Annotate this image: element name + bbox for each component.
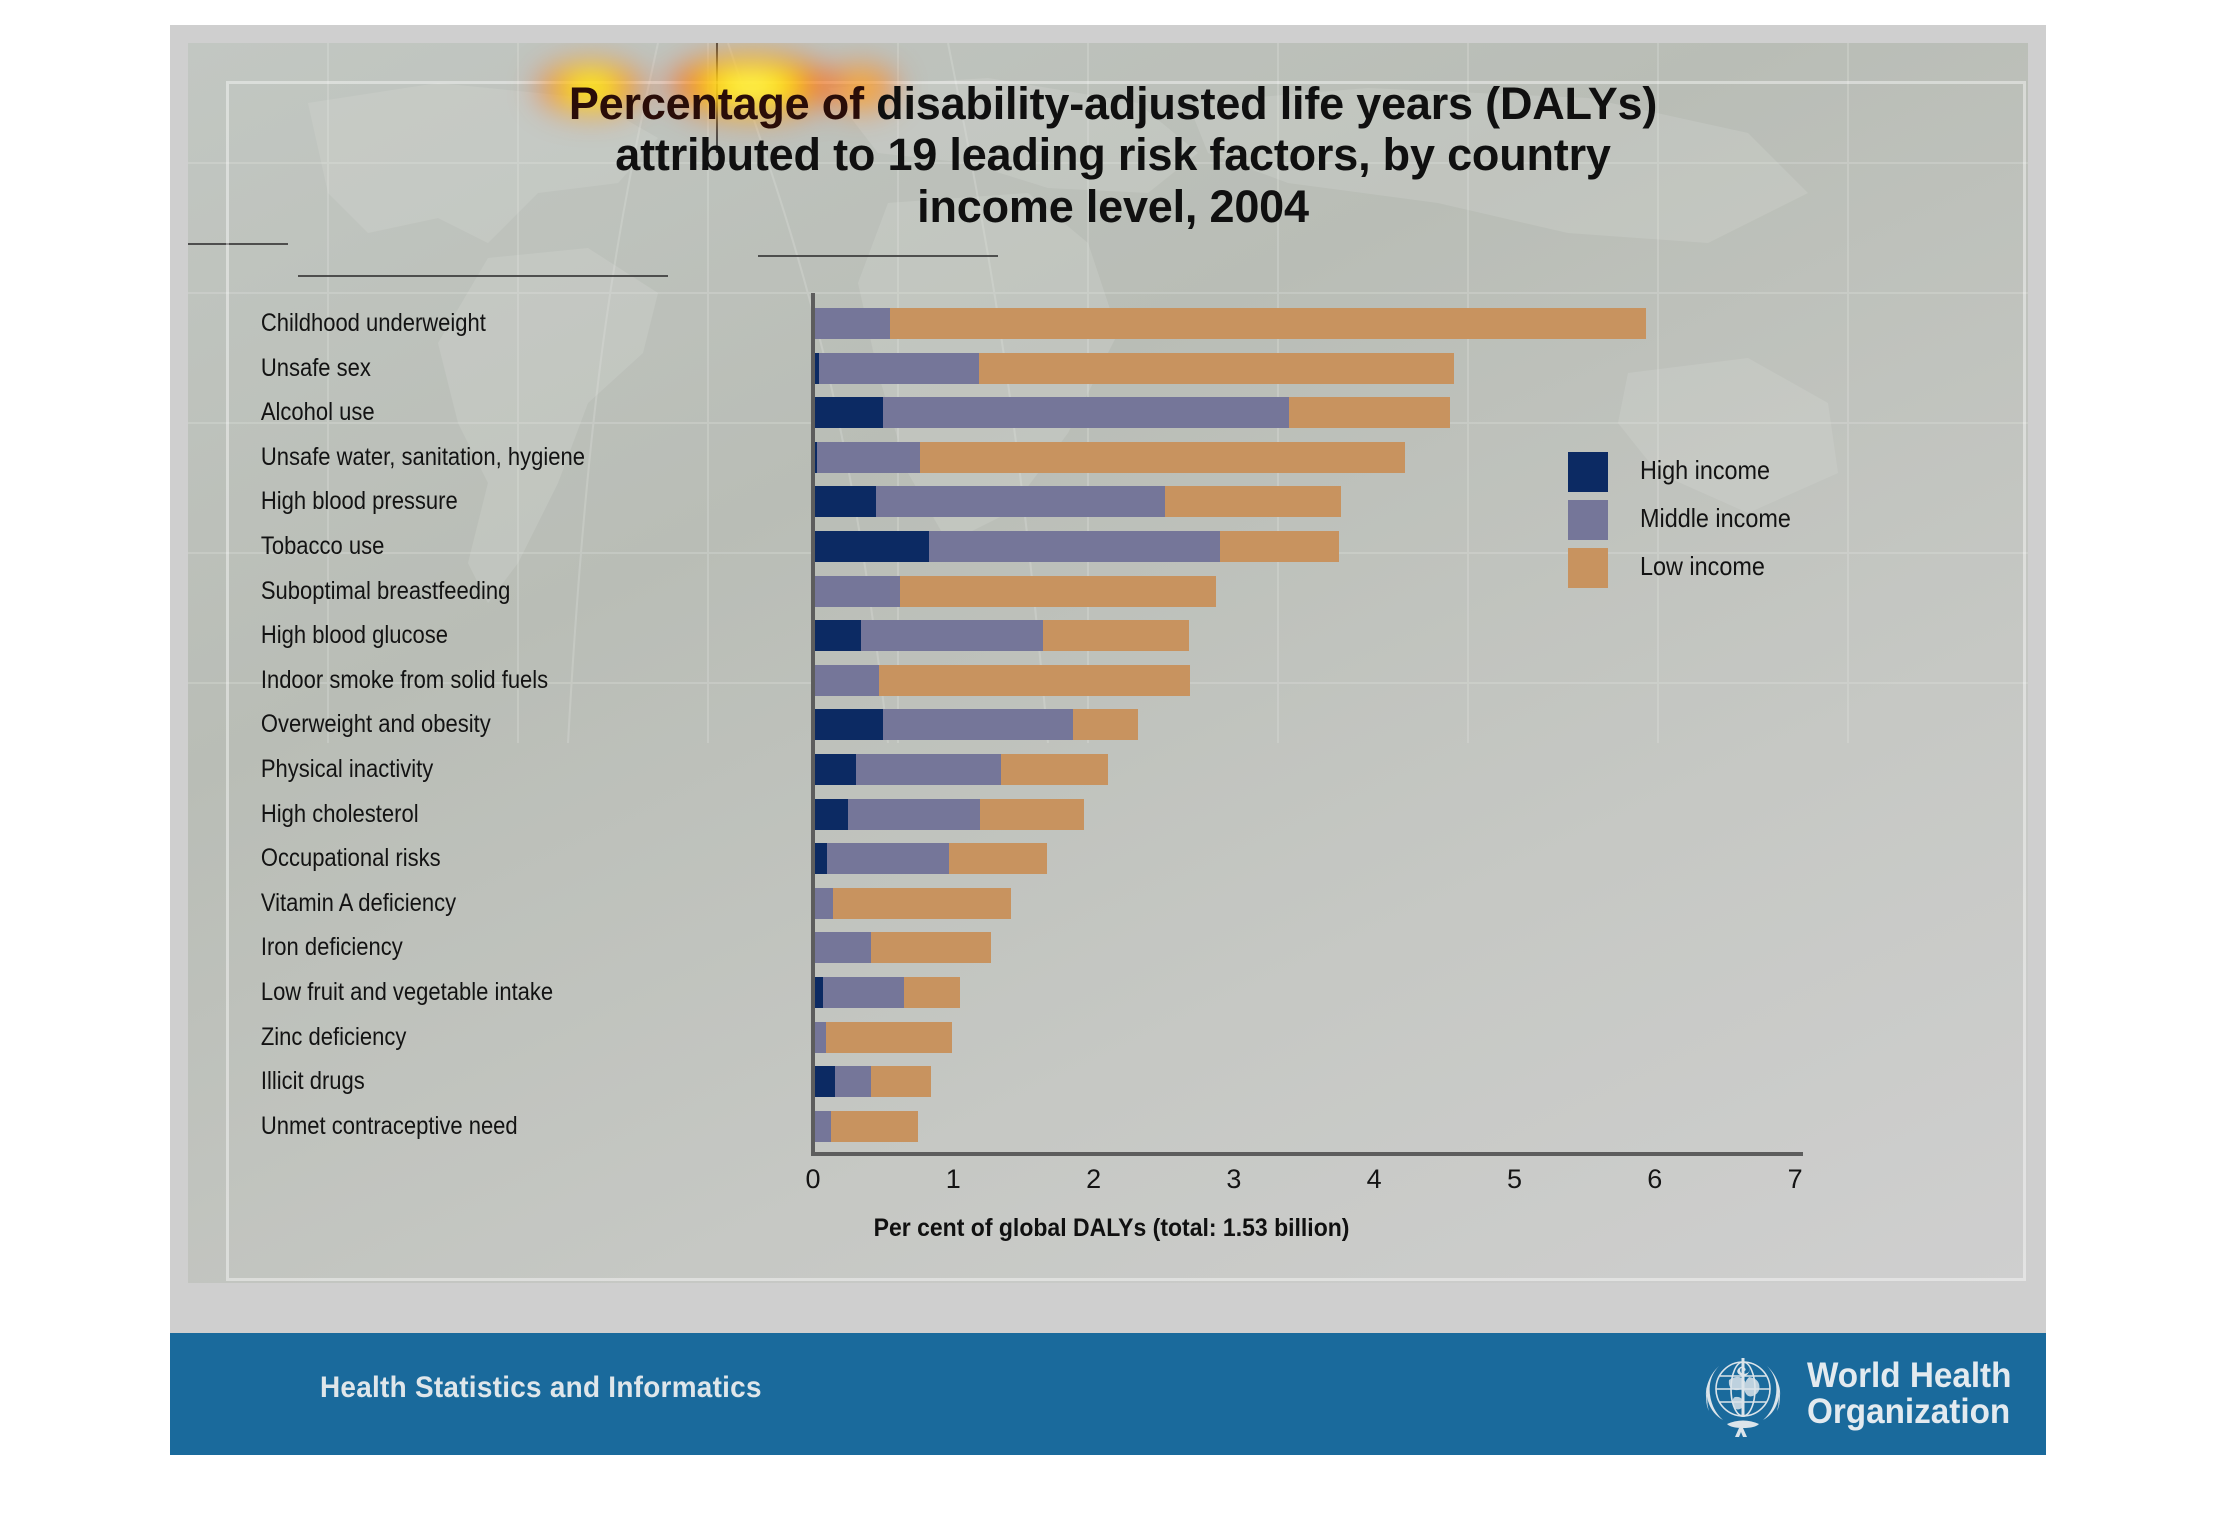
stacked-bar xyxy=(813,932,991,963)
footer-bar: Health Statistics and Informatics xyxy=(170,1333,2046,1455)
who-emblem-icon xyxy=(1689,1342,1797,1446)
bar-segment xyxy=(871,932,992,963)
bar-segment xyxy=(900,576,1216,607)
bar-segment xyxy=(920,442,1405,473)
bar-segment xyxy=(883,397,1288,428)
stacked-bar xyxy=(813,977,960,1008)
x-tick-label: 7 xyxy=(1775,1164,1815,1195)
legend-swatch xyxy=(1568,452,1608,492)
bar-segment xyxy=(1001,754,1108,785)
bar-segment xyxy=(813,932,871,963)
chart-row: Unsafe sex xyxy=(188,346,1688,390)
stacked-bar xyxy=(813,1066,931,1097)
x-tick-label: 3 xyxy=(1214,1164,1254,1195)
x-axis-line xyxy=(811,1152,1803,1156)
stacked-bar xyxy=(813,442,1405,473)
bar-segment xyxy=(856,754,1001,785)
chart-row: High blood pressure xyxy=(188,479,1688,523)
bar-segment xyxy=(848,799,980,830)
bar-segment xyxy=(813,308,890,339)
bar-segment xyxy=(871,1066,931,1097)
chart-row: Overweight and obesity xyxy=(188,702,1688,746)
stacked-bar xyxy=(813,308,1646,339)
who-line-2: Organization xyxy=(1807,1394,2011,1430)
title-highlight-wrapper: Percentage of xyxy=(569,78,864,129)
stacked-bar xyxy=(813,1111,918,1142)
y-axis-category-label: Physical inactivity xyxy=(261,747,795,791)
bar-segment xyxy=(827,843,949,874)
y-axis-category-label: Indoor smoke from solid fuels xyxy=(261,658,795,702)
who-line-1: World Health xyxy=(1807,1358,2011,1394)
bar-segment xyxy=(1073,709,1139,740)
title-line-3: income level, 2004 xyxy=(917,181,1309,232)
bar-segment xyxy=(813,843,827,874)
bar-segment xyxy=(890,308,1646,339)
stacked-bar xyxy=(813,754,1108,785)
bar-segment xyxy=(813,531,929,562)
legend-label: High income xyxy=(1640,448,1770,492)
title-highlighted-text: Percentage of xyxy=(569,78,864,129)
y-axis-category-label: Tobacco use xyxy=(261,524,795,568)
title-rest-text: disability-adjusted life years (DALYs) xyxy=(864,78,1657,129)
chart-row: Low fruit and vegetable intake xyxy=(188,970,1688,1014)
chart-row: Vitamin A deficiency xyxy=(188,881,1688,925)
y-axis-line xyxy=(811,293,815,1156)
chart-row: Suboptimal breastfeeding xyxy=(188,569,1688,613)
page-title: Percentage of disability-adjusted life y… xyxy=(248,78,1978,232)
bar-segment xyxy=(833,888,1011,919)
bar-chart: Childhood underweightUnsafe sexAlcohol u… xyxy=(188,293,2028,1273)
stacked-bar xyxy=(813,531,1339,562)
slide-content-area: Percentage of disability-adjusted life y… xyxy=(188,43,2028,1283)
y-axis-category-label: Low fruit and vegetable intake xyxy=(261,970,795,1014)
legend-label: Low income xyxy=(1640,544,1765,588)
stacked-bar xyxy=(813,843,1047,874)
bar-segment xyxy=(979,353,1455,384)
bar-segment xyxy=(1220,531,1339,562)
legend-swatch xyxy=(1568,500,1608,540)
bar-segment xyxy=(813,754,856,785)
stacked-bar xyxy=(813,888,1011,919)
bar-segment xyxy=(929,531,1219,562)
chart-row: High blood glucose xyxy=(188,613,1688,657)
y-axis-category-label: Unsafe sex xyxy=(261,346,795,390)
chart-row: Occupational risks xyxy=(188,836,1688,880)
chart-row: Unsafe water, sanitation, hygiene xyxy=(188,435,1688,479)
x-tick-label: 2 xyxy=(1074,1164,1114,1195)
bar-segment xyxy=(813,576,900,607)
y-axis-category-label: Occupational risks xyxy=(261,836,795,880)
y-axis-category-label: Unsafe water, sanitation, hygiene xyxy=(261,435,795,479)
stacked-bar xyxy=(813,665,1190,696)
bar-segment xyxy=(826,1022,952,1053)
y-axis-category-label: Vitamin A deficiency xyxy=(261,881,795,925)
bar-segment xyxy=(813,397,883,428)
bar-segment xyxy=(949,843,1047,874)
bar-segment xyxy=(883,709,1072,740)
bar-segment xyxy=(819,353,979,384)
bar-segment xyxy=(823,977,904,1008)
bar-segment xyxy=(861,620,1043,651)
chart-row: Tobacco use xyxy=(188,524,1688,568)
bar-segment xyxy=(835,1066,870,1097)
y-axis-category-label: Illicit drugs xyxy=(261,1059,795,1103)
bar-segment xyxy=(1043,620,1189,651)
stacked-bar xyxy=(813,709,1138,740)
y-axis-category-label: Iron deficiency xyxy=(261,925,795,969)
chart-row: Iron deficiency xyxy=(188,925,1688,969)
stacked-bar xyxy=(813,799,1084,830)
y-axis-category-label: Zinc deficiency xyxy=(261,1015,795,1059)
y-axis-category-label: Suboptimal breastfeeding xyxy=(261,569,795,613)
stacked-bar xyxy=(813,576,1216,607)
bar-segment xyxy=(904,977,960,1008)
chart-row: Indoor smoke from solid fuels xyxy=(188,658,1688,702)
y-axis-category-label: Childhood underweight xyxy=(261,301,795,345)
x-tick-label: 1 xyxy=(933,1164,973,1195)
legend-label: Middle income xyxy=(1640,496,1791,540)
bar-segment xyxy=(1289,397,1450,428)
bar-segment xyxy=(980,799,1084,830)
who-wordmark: World Health Organization xyxy=(1807,1358,2011,1429)
bar-segment xyxy=(876,486,1165,517)
y-axis-category-label: Alcohol use xyxy=(261,390,795,434)
bar-segment xyxy=(831,1111,918,1142)
bar-segment xyxy=(813,709,883,740)
bar-segment xyxy=(813,1111,831,1142)
y-axis-category-label: High cholesterol xyxy=(261,792,795,836)
y-axis-category-label: High blood glucose xyxy=(261,613,795,657)
stacked-bar xyxy=(813,486,1341,517)
x-axis-label: Per cent of global DALYs (total: 1.53 bi… xyxy=(372,1214,1851,1243)
stacked-bar xyxy=(813,1022,952,1053)
title-line-2: attributed to 19 leading risk factors, b… xyxy=(615,129,1610,180)
bar-segment xyxy=(879,665,1190,696)
leader-line-mid xyxy=(298,275,668,277)
legend-swatch xyxy=(1568,548,1608,588)
bar-segment xyxy=(813,665,879,696)
leader-line-left xyxy=(188,243,288,245)
chart-row: Physical inactivity xyxy=(188,747,1688,791)
bar-segment xyxy=(813,1066,835,1097)
bar-segment xyxy=(1165,486,1340,517)
bar-segment xyxy=(813,620,861,651)
chart-row: Alcohol use xyxy=(188,390,1688,434)
footer-department-label: Health Statistics and Informatics xyxy=(320,1371,762,1405)
leader-line-right xyxy=(758,255,998,257)
chart-row: Unmet contraceptive need xyxy=(188,1104,1688,1148)
y-axis-category-label: Overweight and obesity xyxy=(261,702,795,746)
bar-segment xyxy=(813,486,876,517)
bar-segment xyxy=(817,442,919,473)
y-axis-category-label: High blood pressure xyxy=(261,479,795,523)
bar-segment xyxy=(813,799,848,830)
x-tick-label: 0 xyxy=(793,1164,833,1195)
who-logo: World Health Organization xyxy=(1689,1341,2022,1447)
y-axis-category-label: Unmet contraceptive need xyxy=(261,1104,795,1148)
x-tick-label: 6 xyxy=(1635,1164,1675,1195)
slide: Percentage of disability-adjusted life y… xyxy=(170,25,2046,1455)
chart-row: Childhood underweight xyxy=(188,301,1688,345)
bar-segment xyxy=(813,888,833,919)
x-tick-label: 4 xyxy=(1354,1164,1394,1195)
stacked-bar xyxy=(813,397,1450,428)
chart-row: Zinc deficiency xyxy=(188,1015,1688,1059)
stacked-bar xyxy=(813,620,1189,651)
chart-row: High cholesterol xyxy=(188,792,1688,836)
stacked-bar xyxy=(813,353,1454,384)
chart-row: Illicit drugs xyxy=(188,1059,1688,1103)
x-tick-label: 5 xyxy=(1495,1164,1535,1195)
